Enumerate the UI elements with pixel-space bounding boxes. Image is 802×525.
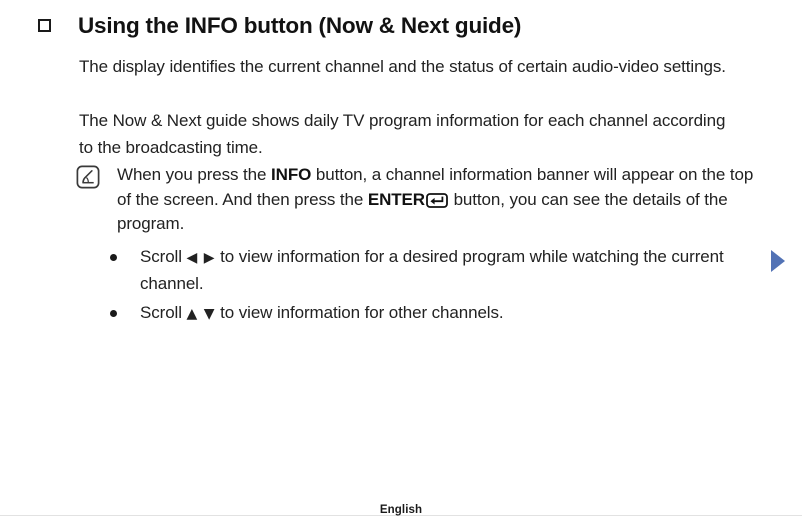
paragraph-display-identifies: The display identifies the current chann… bbox=[79, 53, 739, 80]
note-text: When you press the INFO button, a channe… bbox=[117, 163, 765, 237]
note-text-bold-enter: ENTER bbox=[368, 190, 425, 209]
list-item: Scroll ▲ ▼ to view information for other… bbox=[110, 300, 770, 327]
paragraph-now-next-guide: The Now & Next guide shows daily TV prog… bbox=[79, 107, 739, 161]
section-heading: Using the INFO button (Now & Next guide) bbox=[38, 9, 521, 43]
bullet-suffix: to view information for other channels. bbox=[216, 303, 504, 322]
bullet-prefix: Scroll bbox=[140, 247, 187, 266]
list-item-text: Scroll ▲ ▼ to view information for other… bbox=[140, 300, 770, 327]
footer-language-label: English bbox=[0, 504, 802, 516]
bullet-suffix: to view information for a desired progra… bbox=[140, 247, 724, 293]
document-page: Using the INFO button (Now & Next guide)… bbox=[0, 0, 802, 525]
list-item: Scroll ◀ ▶ to view information for a des… bbox=[110, 244, 770, 297]
round-bullet-icon bbox=[110, 310, 117, 317]
round-bullet-icon bbox=[110, 254, 117, 261]
next-page-arrow-icon[interactable] bbox=[766, 247, 790, 275]
page-title: Using the INFO button (Now & Next guide) bbox=[78, 9, 521, 43]
note-text-part1: When you press the bbox=[117, 165, 271, 184]
list-item-text: Scroll ◀ ▶ to view information for a des… bbox=[140, 244, 770, 297]
hollow-square-bullet-icon bbox=[38, 19, 51, 32]
note-pencil-icon bbox=[76, 165, 100, 189]
note-text-bold-info: INFO bbox=[271, 165, 311, 184]
bullet-list: Scroll ◀ ▶ to view information for a des… bbox=[110, 244, 770, 330]
note-block: When you press the INFO button, a channe… bbox=[76, 163, 766, 237]
left-right-arrow-glyph: ◀ ▶ bbox=[187, 250, 216, 266]
enter-key-icon bbox=[426, 191, 448, 206]
up-down-arrow-glyph: ▲ ▼ bbox=[187, 306, 216, 322]
bullet-prefix: Scroll bbox=[140, 303, 187, 322]
